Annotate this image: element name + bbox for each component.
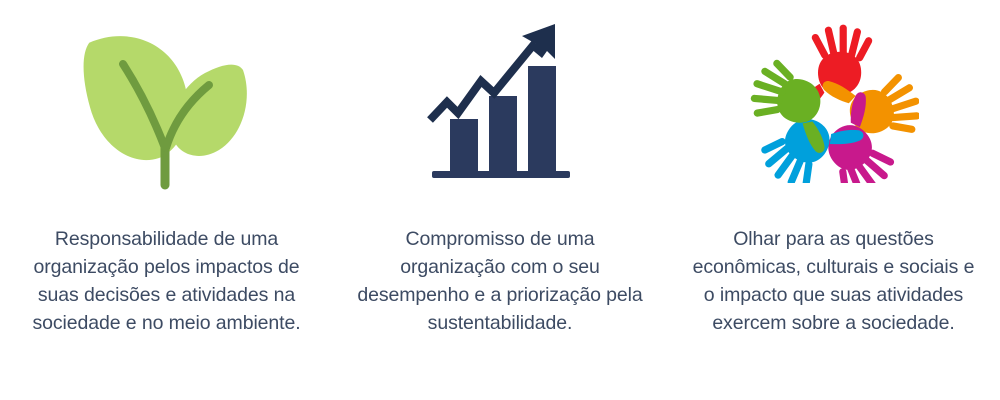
column-responsabilidade: Responsabilidade de uma organização pelo… [0, 0, 333, 400]
infographic-board: Responsabilidade de uma organização pelo… [0, 0, 1000, 400]
five-hands-circle-icon [667, 0, 1000, 205]
chart-baseline [432, 171, 570, 178]
sprout-plant-icon [0, 0, 333, 205]
column-olhar: Olhar para as questões econômicas, cultu… [667, 0, 1000, 400]
caption-olhar: Olhar para as questões econômicas, cultu… [667, 225, 1000, 337]
column-compromisso: Compromisso de uma organização com o seu… [334, 0, 667, 400]
five-hands-circle-icon-svg [749, 23, 919, 183]
caption-compromisso: Compromisso de uma organização com o seu… [334, 225, 667, 337]
growth-bar-chart-icon-svg [418, 18, 583, 188]
trend-line [430, 43, 535, 120]
caption-responsabilidade: Responsabilidade de uma organização pelo… [0, 225, 333, 337]
chart-bar-1 [450, 119, 478, 171]
sprout-plant-icon-svg [77, 15, 257, 190]
leaf-left [80, 29, 193, 165]
chart-bar-3 [528, 66, 556, 171]
chart-bar-2 [489, 96, 517, 171]
growth-bar-chart-icon [334, 0, 667, 205]
